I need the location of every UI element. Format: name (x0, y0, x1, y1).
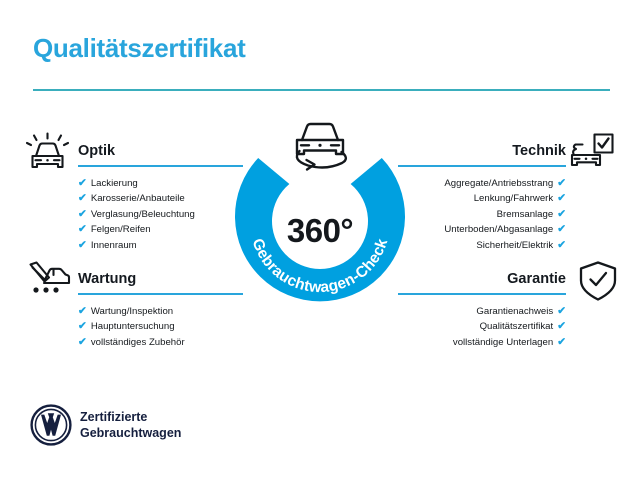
section-divider-technik (398, 165, 566, 167)
check-icon: ✔ (78, 335, 87, 350)
section-heading-technik: Technik (398, 143, 566, 160)
section-items-technik: Aggregate/Antriebsstrang✔ Lenkung/Fahrwe… (398, 176, 566, 253)
section-divider-wartung (78, 293, 243, 295)
list-item-label: Hauptuntersuchung (91, 321, 175, 332)
check-icon: ✔ (78, 304, 87, 319)
check-icon: ✔ (78, 319, 87, 334)
section-heading-wartung: Wartung (78, 271, 243, 288)
section-divider-garantie (398, 293, 566, 295)
list-item-label: Verglasung/Beleuchtung (91, 209, 195, 220)
check-icon: ✔ (78, 222, 87, 237)
list-item: ✔Felgen/Reifen (78, 222, 243, 237)
list-item-label: Wartung/Inspektion (91, 306, 173, 317)
list-item: ✔Lackierung (78, 176, 243, 191)
list-item-label: vollständige Unterlagen (453, 337, 553, 348)
section-items-wartung: ✔Wartung/Inspektion ✔Hauptuntersuchung ✔… (78, 304, 243, 350)
section-divider-optik (78, 165, 243, 167)
list-item: Lenkung/Fahrwerk✔ (398, 191, 566, 206)
check-icon: ✔ (557, 191, 566, 206)
list-item: ✔Karosserie/Anbauteile (78, 191, 243, 206)
section-optik: Optik ✔Lackierung ✔Karosserie/Anbauteile… (78, 143, 243, 253)
list-item-label: Lenkung/Fahrwerk (474, 193, 553, 204)
check-icon: ✔ (557, 176, 566, 191)
car-rotate-icon (286, 118, 354, 176)
badge-degrees-label: 360° (225, 212, 415, 250)
check-icon: ✔ (557, 335, 566, 350)
list-item-label: Qualitätszertifikat (480, 321, 554, 332)
list-item-label: Felgen/Reifen (91, 224, 151, 235)
page-title: Qualitätszertifikat (33, 33, 245, 64)
list-item: Aggregate/Antriebsstrang✔ (398, 176, 566, 191)
check-icon: ✔ (78, 238, 87, 253)
car-checkbox-icon (568, 131, 616, 175)
360-check-badge: Gebrauchtwagen-Check 360° (225, 150, 415, 310)
list-item-label: Innenraum (91, 240, 137, 251)
list-item: Bremsanlage✔ (398, 207, 566, 222)
shield-check-icon (574, 259, 622, 303)
list-item: Qualitätszertifikat✔ (398, 319, 566, 334)
section-items-optik: ✔Lackierung ✔Karosserie/Anbauteile ✔Verg… (78, 176, 243, 253)
section-items-garantie: Garantienachweis✔ Qualitätszertifikat✔ v… (398, 304, 566, 350)
list-item-label: Garantienachweis (476, 306, 553, 317)
list-item-label: Karosserie/Anbauteile (91, 193, 185, 204)
list-item-label: vollständiges Zubehör (91, 337, 185, 348)
list-item-label: Unterboden/Abgasanlage (444, 224, 553, 235)
section-garantie: Garantie Garantienachweis✔ Qualitätszert… (398, 271, 566, 350)
list-item: ✔Wartung/Inspektion (78, 304, 243, 319)
footer-brand-text: Zertifizierte Gebrauchtwagen (80, 410, 181, 441)
list-item-label: Bremsanlage (497, 209, 554, 220)
check-icon: ✔ (78, 176, 87, 191)
section-wartung: Wartung ✔Wartung/Inspektion ✔Hauptunters… (78, 271, 243, 350)
list-item: ✔Verglasung/Beleuchtung (78, 207, 243, 222)
footer-line-2: Gebrauchtwagen (80, 426, 181, 442)
check-icon: ✔ (78, 207, 87, 222)
title-divider (33, 89, 610, 91)
list-item: ✔vollständiges Zubehör (78, 335, 243, 350)
check-icon: ✔ (557, 207, 566, 222)
car-wrench-icon (24, 259, 72, 303)
list-item: Unterboden/Abgasanlage✔ (398, 222, 566, 237)
section-technik: Technik Aggregate/Antriebsstrang✔ Lenkun… (398, 143, 566, 253)
car-polish-icon (24, 131, 72, 175)
list-item: ✔Hauptuntersuchung (78, 319, 243, 334)
check-icon: ✔ (557, 222, 566, 237)
list-item: Garantienachweis✔ (398, 304, 566, 319)
check-icon: ✔ (557, 319, 566, 334)
check-icon: ✔ (557, 304, 566, 319)
check-icon: ✔ (78, 191, 87, 206)
section-heading-garantie: Garantie (398, 271, 566, 288)
list-item-label: Sicherheit/Elektrik (476, 240, 553, 251)
vw-logo-icon (30, 404, 72, 446)
footer-line-1: Zertifizierte (80, 410, 181, 426)
list-item-label: Lackierung (91, 178, 138, 189)
list-item: Sicherheit/Elektrik✔ (398, 238, 566, 253)
check-icon: ✔ (557, 238, 566, 253)
list-item: vollständige Unterlagen✔ (398, 335, 566, 350)
list-item: ✔Innenraum (78, 238, 243, 253)
list-item-label: Aggregate/Antriebsstrang (444, 178, 553, 189)
section-heading-optik: Optik (78, 143, 243, 160)
